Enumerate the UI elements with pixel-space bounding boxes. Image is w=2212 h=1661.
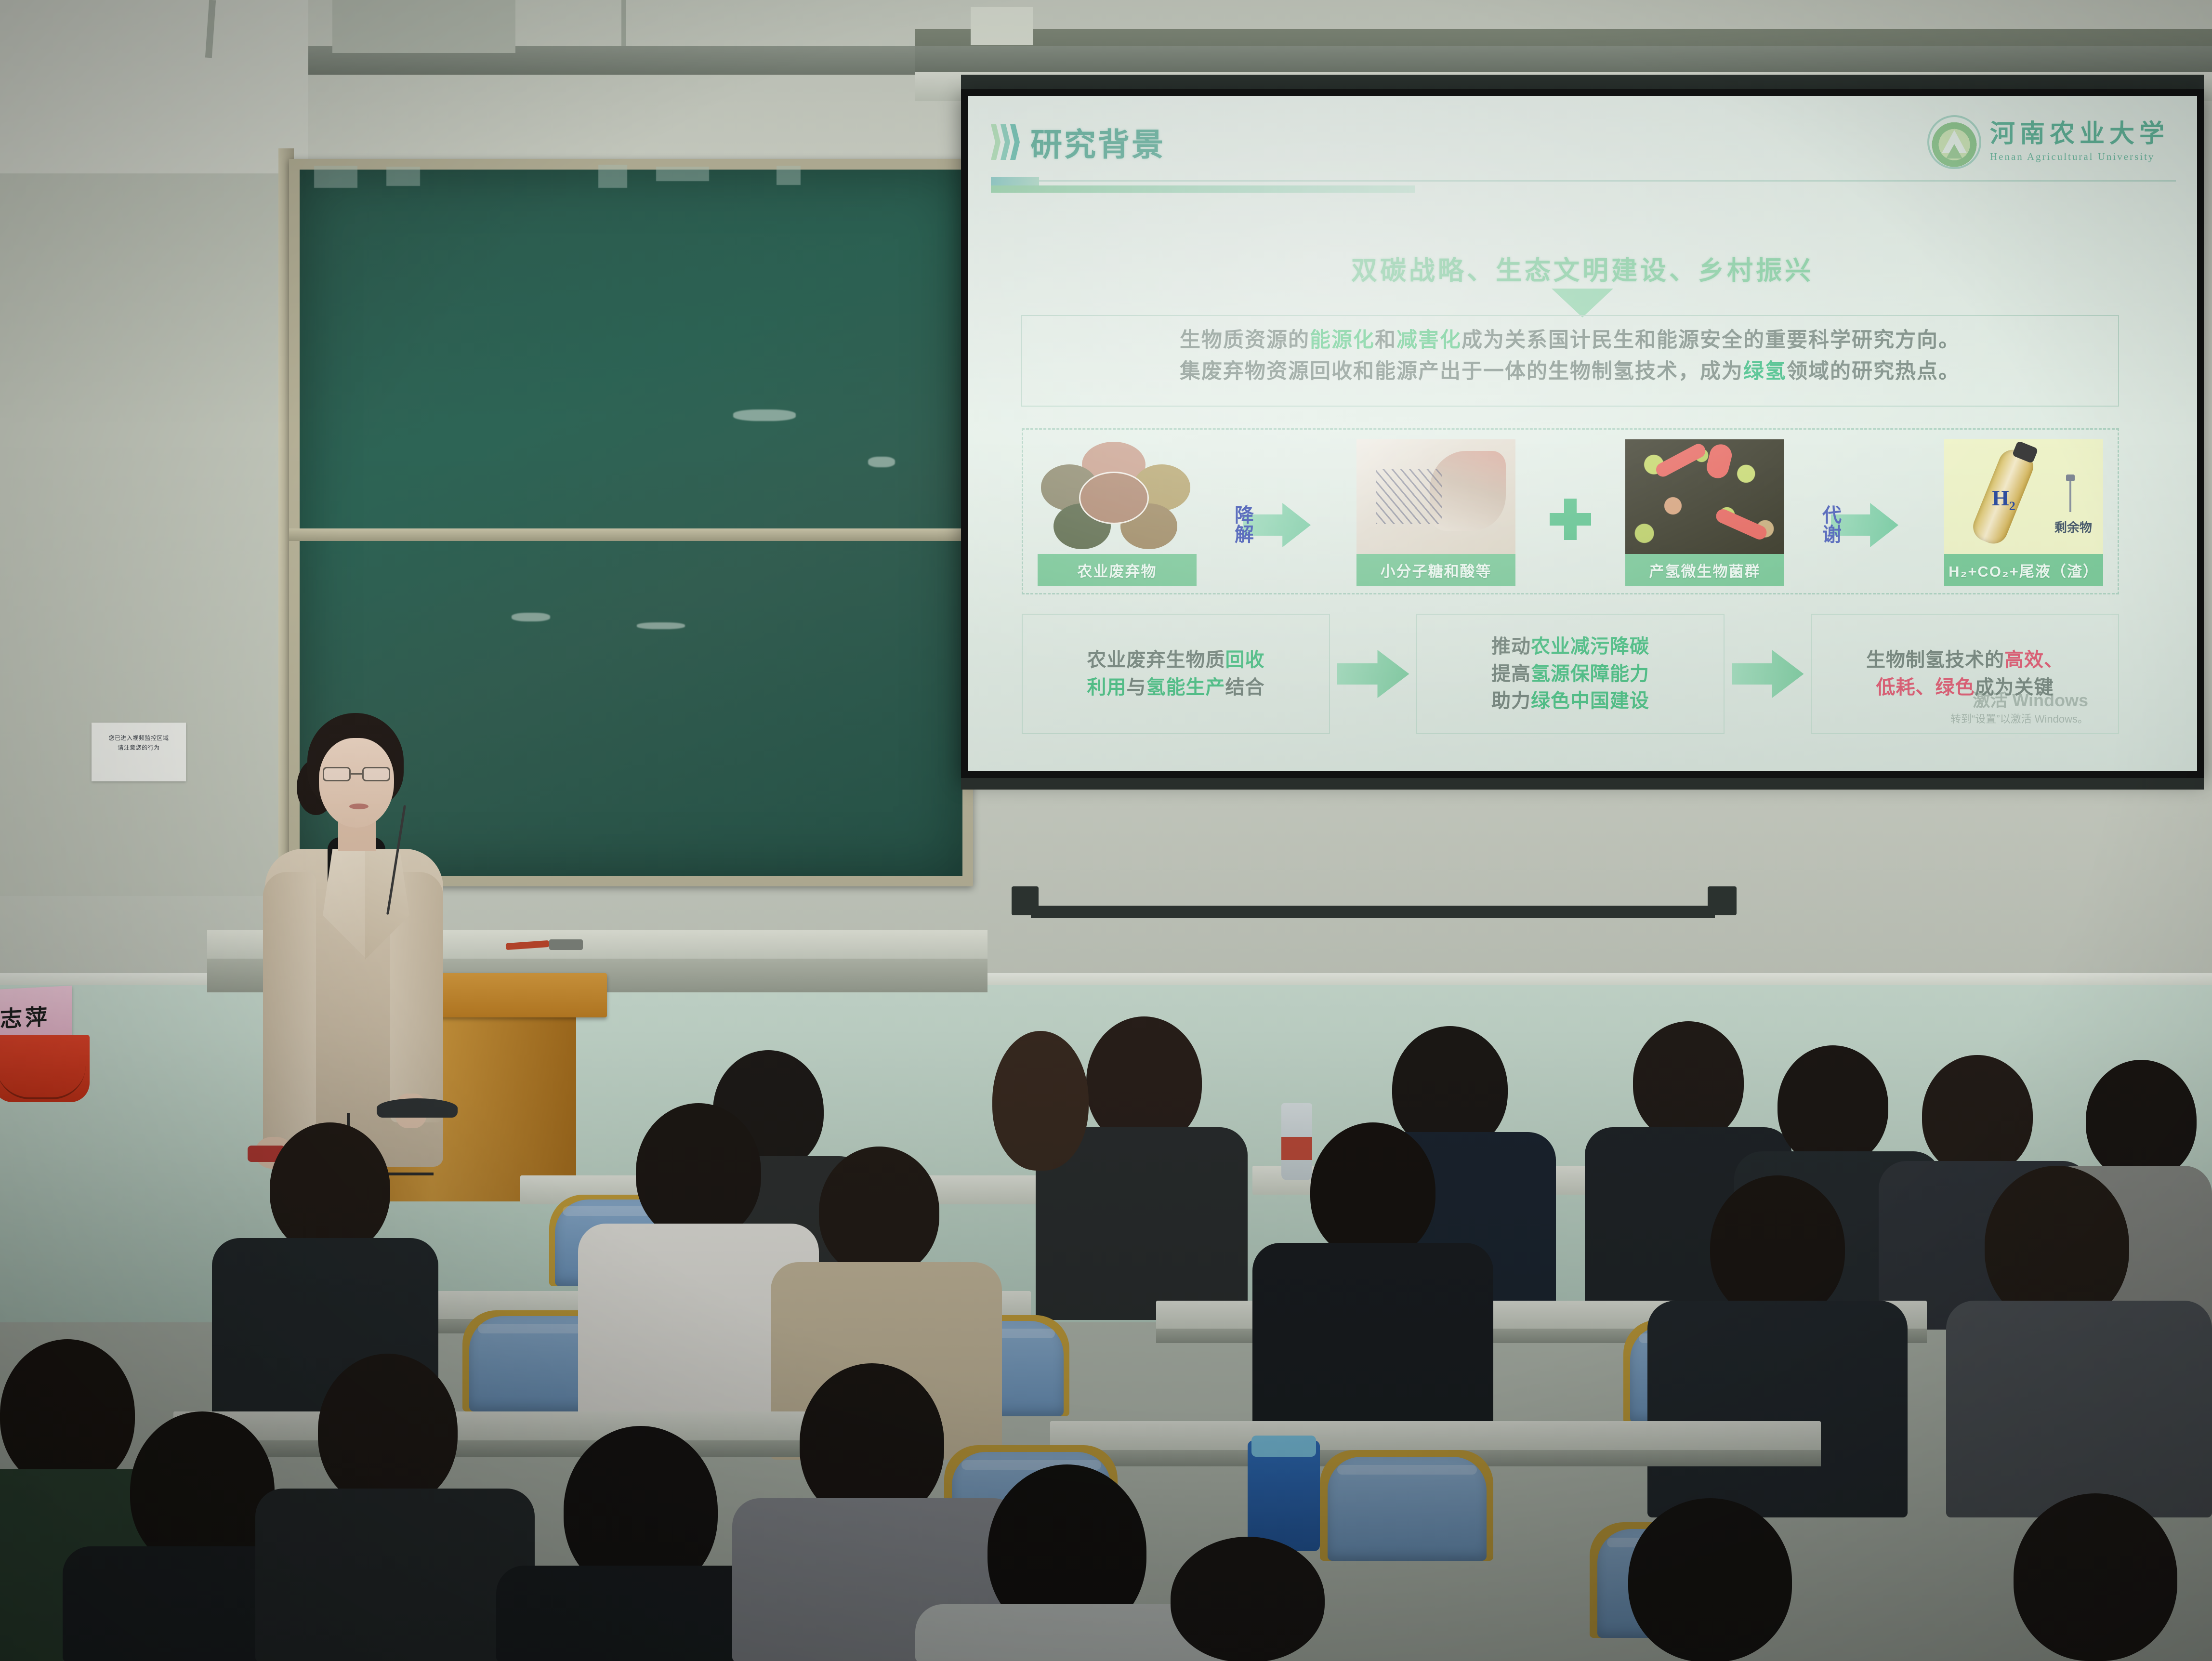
logo-name-cn: 河南农业大学	[1990, 121, 2169, 146]
process-node-caption: H₂+CO₂+尾液（渣）	[1944, 554, 2103, 586]
para-seg: 集废弃物资源回收和能源产出于一体的生物制氢技术，成为	[1180, 360, 1743, 383]
chalkboard-tape	[777, 166, 801, 185]
audience-head	[1710, 1175, 1845, 1320]
para-seg: 成为关系国计民生和能源安全的重要科学研究方向。	[1461, 329, 1960, 352]
university-logo: 河南农业大学 Henan Agricultural University	[1927, 115, 2169, 169]
conc-seg: 助力	[1491, 690, 1531, 712]
process-node-sugars: 小分子糖和酸等	[1356, 439, 1515, 586]
conc-highlight: 氢源保障能力	[1531, 663, 1649, 685]
presenter-face	[319, 738, 394, 828]
residue-label: 剩余物	[2054, 518, 2092, 536]
conc-highlight: 农业减污降碳	[1531, 636, 1649, 657]
chalk-smudge	[512, 613, 550, 621]
slide-section-title: 研究背景	[1030, 119, 1165, 165]
screen-bottom-bar	[961, 778, 2204, 790]
audience-head	[0, 1339, 135, 1489]
audience-head	[318, 1354, 458, 1508]
conc-seg: 与	[1127, 677, 1146, 698]
desk-edge	[173, 1440, 838, 1457]
presentation-slide: 研究背景 河南农业大学 Henan Agricultural Universit…	[968, 96, 2197, 771]
conc-highlight: 利用	[1087, 677, 1127, 698]
name-card-text: 志萍	[0, 999, 50, 1033]
audience-head	[1922, 1055, 2033, 1175]
audience-head	[2086, 1060, 2197, 1180]
slide-banner-heading: 双碳战略、生态文明建设、乡村振兴	[968, 249, 2197, 287]
notice-line-2: 请注意您的行为	[95, 743, 182, 752]
desk-row	[1050, 1421, 1821, 1453]
plus-icon	[1550, 499, 1591, 540]
audience-head	[1310, 1122, 1435, 1260]
conc-seg: 提高	[1491, 663, 1531, 685]
notice-line-1: 您已进入视频监控区域	[95, 733, 182, 743]
lecture-hall-photo: 您已进入视频监控区域 请注意您的行为 THREELEAVES 研究背景	[0, 0, 2212, 1661]
molecule-structure-photo	[1356, 439, 1515, 554]
projection-screen: 研究背景 河南农业大学 Henan Agricultural Universit…	[961, 89, 2204, 778]
desk-row	[173, 1411, 838, 1443]
screen-top-bar	[961, 75, 2204, 89]
screen-frame: 研究背景 河南农业大学 Henan Agricultural Universit…	[961, 89, 2204, 778]
blue-tumbler	[1248, 1440, 1320, 1551]
para-highlight: 能源化	[1310, 329, 1375, 352]
process-flow-row: 农业废弃物 降解 小分子糖和酸等	[1023, 430, 2118, 593]
arrow-down-icon	[1552, 289, 1613, 317]
slide-header: 研究背景	[991, 119, 1165, 165]
wall-stain	[332, 0, 515, 53]
audience-head	[819, 1147, 939, 1277]
logo-text-block: 河南农业大学 Henan Agricultural University	[1990, 121, 2169, 163]
audience-head	[636, 1103, 761, 1240]
process-node-hydrogen: H2 剩余物 H₂+CO₂+尾液（渣）	[1944, 439, 2103, 586]
process-node-microbes: 产氢微生物菌群	[1625, 439, 1784, 586]
chalkboard-tape	[656, 167, 709, 181]
paragraph-line-2: 集废弃物资源回收和能源产出于一体的生物制氢技术，成为绿氢领域的研究热点。	[1034, 356, 2106, 387]
paragraph-line-1: 生物质资源的能源化和减害化成为关系国计民生和能源安全的重要科学研究方向。	[1034, 325, 2106, 356]
audience-head-long-hair	[992, 1031, 1089, 1171]
audience-body	[1647, 1301, 1908, 1517]
audience-head	[1171, 1537, 1325, 1661]
seat	[1328, 1457, 1487, 1561]
name-card: 志萍	[0, 986, 72, 1040]
ceiling-beam	[0, 46, 2212, 75]
university-seal-icon	[1927, 115, 1981, 169]
arrow-right-icon	[1337, 650, 1409, 698]
watermark-line-1: 激活 Windows	[1950, 689, 2088, 712]
audience-head	[270, 1122, 390, 1255]
process-flow-box: 农业废弃物 降解 小分子糖和酸等	[1022, 428, 2119, 594]
wall-patch	[971, 7, 1033, 45]
para-highlight: 绿氢	[1743, 360, 1787, 383]
microbe-colony-photo	[1625, 439, 1784, 554]
conc-seg: 农业废弃生物质	[1087, 649, 1225, 671]
process-node-caption: 产氢微生物菌群	[1625, 554, 1784, 586]
eyeglasses-icon	[323, 767, 390, 781]
conc-highlight: 回收	[1225, 649, 1265, 671]
arrow-label-degrade: 降解	[1233, 506, 1256, 544]
audience-body	[1946, 1301, 2212, 1517]
conc-highlight: 绿色中国建设	[1531, 690, 1649, 712]
conc-seg: 生物制氢技术的	[1866, 649, 2004, 671]
conc-seg: 推动	[1491, 636, 1531, 657]
para-seg: 和	[1375, 329, 1396, 352]
arrow-right-icon	[1732, 650, 1804, 698]
chalkboard-tape	[386, 167, 420, 186]
red-bag	[0, 1035, 90, 1102]
wall-patch	[0, 0, 308, 173]
audience-head	[1628, 1498, 1792, 1661]
surveillance-notice: 您已进入视频监控区域 请注意您的行为	[92, 723, 186, 781]
chalk-eraser	[549, 939, 583, 950]
para-seg: 领域的研究热点。	[1787, 360, 1960, 383]
chalkboard-tape	[598, 165, 627, 188]
para-highlight: 减害化	[1396, 329, 1461, 352]
process-arrow-degrade: 降解	[1231, 489, 1322, 561]
conc-highlight-red: 高效、	[2004, 649, 2064, 671]
para-seg: 生物质资源的	[1180, 329, 1310, 352]
audience-head	[1633, 1021, 1744, 1142]
process-node-waste: 农业废弃物	[1038, 439, 1197, 586]
conclusion-box-2: 推动农业减污降碳 提高氢源保障能力 助力绿色中国建设	[1416, 614, 1725, 734]
slide-paragraph-box: 生物质资源的能源化和减害化成为关系国计民生和能源安全的重要科学研究方向。 集废弃…	[1021, 315, 2119, 407]
presenter-arm-left	[263, 872, 316, 1156]
screen-support-rail	[1031, 906, 1715, 918]
windows-activation-watermark: 激活 Windows 转到“设置”以激活 Windows。	[1950, 689, 2088, 726]
process-node-caption: 农业废弃物	[1038, 554, 1197, 586]
conc-highlight: 氢能生产	[1146, 677, 1225, 698]
chalkboard-divider	[289, 528, 973, 541]
conclusion-box-3: 生物制氢技术的高效、 低耗、绿色成为关键 激活 Windows 转到“设置”以激…	[1811, 614, 2119, 734]
header-rule-bar	[991, 185, 1415, 193]
header-rule	[991, 180, 2176, 182]
chevron-right-icon	[991, 124, 1020, 160]
hydrogen-cylinder-photo: H2 剩余物	[1944, 439, 2103, 554]
presenter-mouth	[349, 804, 369, 809]
audience-body	[255, 1489, 535, 1661]
h2-inline-label: H2	[1992, 485, 2015, 514]
watermark-line-2: 转到“设置”以激活 Windows。	[1950, 712, 2088, 726]
chalk-smudge	[868, 457, 895, 467]
wall-crack	[621, 0, 626, 46]
process-arrow-metabolism: 代谢	[1818, 489, 1910, 561]
audience-head	[2014, 1493, 2177, 1661]
conclusion-row: 农业废弃生物质回收 利用与氢能生产结合 推动农业减污降碳 提高氢源保障能力 助力…	[1022, 614, 2119, 734]
logo-name-en: Henan Agricultural University	[1990, 151, 2169, 163]
chalk-smudge	[637, 622, 685, 629]
agricultural-waste-photo	[1038, 439, 1197, 554]
conclusion-box-1: 农业废弃生物质回收 利用与氢能生产结合	[1022, 614, 1330, 734]
conc-seg: 结合	[1225, 677, 1265, 698]
tumbler-lid	[1251, 1436, 1316, 1457]
audience-head	[1777, 1045, 1888, 1166]
chalk-smudge	[733, 409, 796, 421]
arrow-label-metabolism: 代谢	[1820, 506, 1843, 544]
bottle-label	[1281, 1137, 1312, 1160]
process-node-caption: 小分子糖和酸等	[1356, 554, 1515, 586]
wall-patch	[0, 173, 289, 896]
chalkboard-tape	[314, 166, 357, 188]
